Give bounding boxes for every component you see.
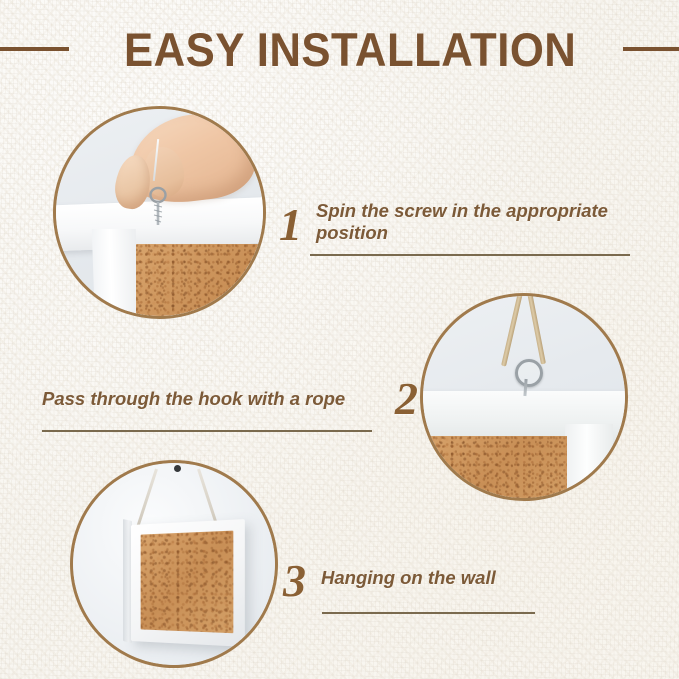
step-2: Pass through the hook with a rope 2 bbox=[42, 378, 418, 432]
step-photo-2 bbox=[420, 293, 628, 501]
step-3-label: Hanging on the wall bbox=[321, 567, 496, 589]
step-1-number: 1 bbox=[279, 204, 302, 246]
step-2-underline bbox=[42, 430, 372, 432]
screw-eye-hook-icon bbox=[148, 185, 168, 227]
photo-2-frame-right-rail bbox=[565, 424, 613, 498]
divider-rule-right-icon bbox=[623, 47, 679, 51]
step-photo-3 bbox=[70, 460, 278, 668]
header-banner: EASY INSTALLATION bbox=[0, 18, 679, 80]
page-title: EASY INSTALLATION bbox=[124, 22, 576, 77]
step-photo-1 bbox=[53, 106, 266, 319]
step-3-underline bbox=[322, 612, 535, 614]
step-1-underline bbox=[310, 254, 630, 256]
step-photo-1-scene bbox=[56, 109, 263, 316]
photo-2-cork-surface bbox=[423, 436, 567, 498]
step-1-row: 1 Spin the screw in the appropriate posi… bbox=[279, 200, 639, 246]
photo-1-frame-left-rail bbox=[92, 229, 141, 316]
step-2-number: 2 bbox=[395, 378, 418, 420]
step-3-row: 3 Hanging on the wall bbox=[283, 558, 583, 602]
step-1: 1 Spin the screw in the appropriate posi… bbox=[279, 200, 639, 256]
photo-3-cork-board bbox=[131, 519, 245, 647]
infographic-page: EASY INSTALLATION bbox=[0, 0, 679, 679]
screw-eye-ring-icon bbox=[515, 359, 543, 387]
step-photo-2-scene bbox=[423, 296, 625, 498]
step-3: 3 Hanging on the wall bbox=[283, 558, 583, 614]
wall-nail-icon bbox=[174, 465, 181, 472]
step-2-label: Pass through the hook with a rope bbox=[42, 388, 345, 410]
step-2-row: Pass through the hook with a rope 2 bbox=[42, 378, 418, 420]
step-photo-3-scene bbox=[73, 463, 275, 665]
step-1-label: Spin the screw in the appropriate positi… bbox=[316, 200, 632, 244]
photo-3-board-cork-surface bbox=[141, 531, 234, 634]
photo-1-cork-surface bbox=[136, 244, 263, 316]
divider-rule-left-icon bbox=[0, 47, 69, 51]
step-3-number: 3 bbox=[283, 560, 306, 602]
